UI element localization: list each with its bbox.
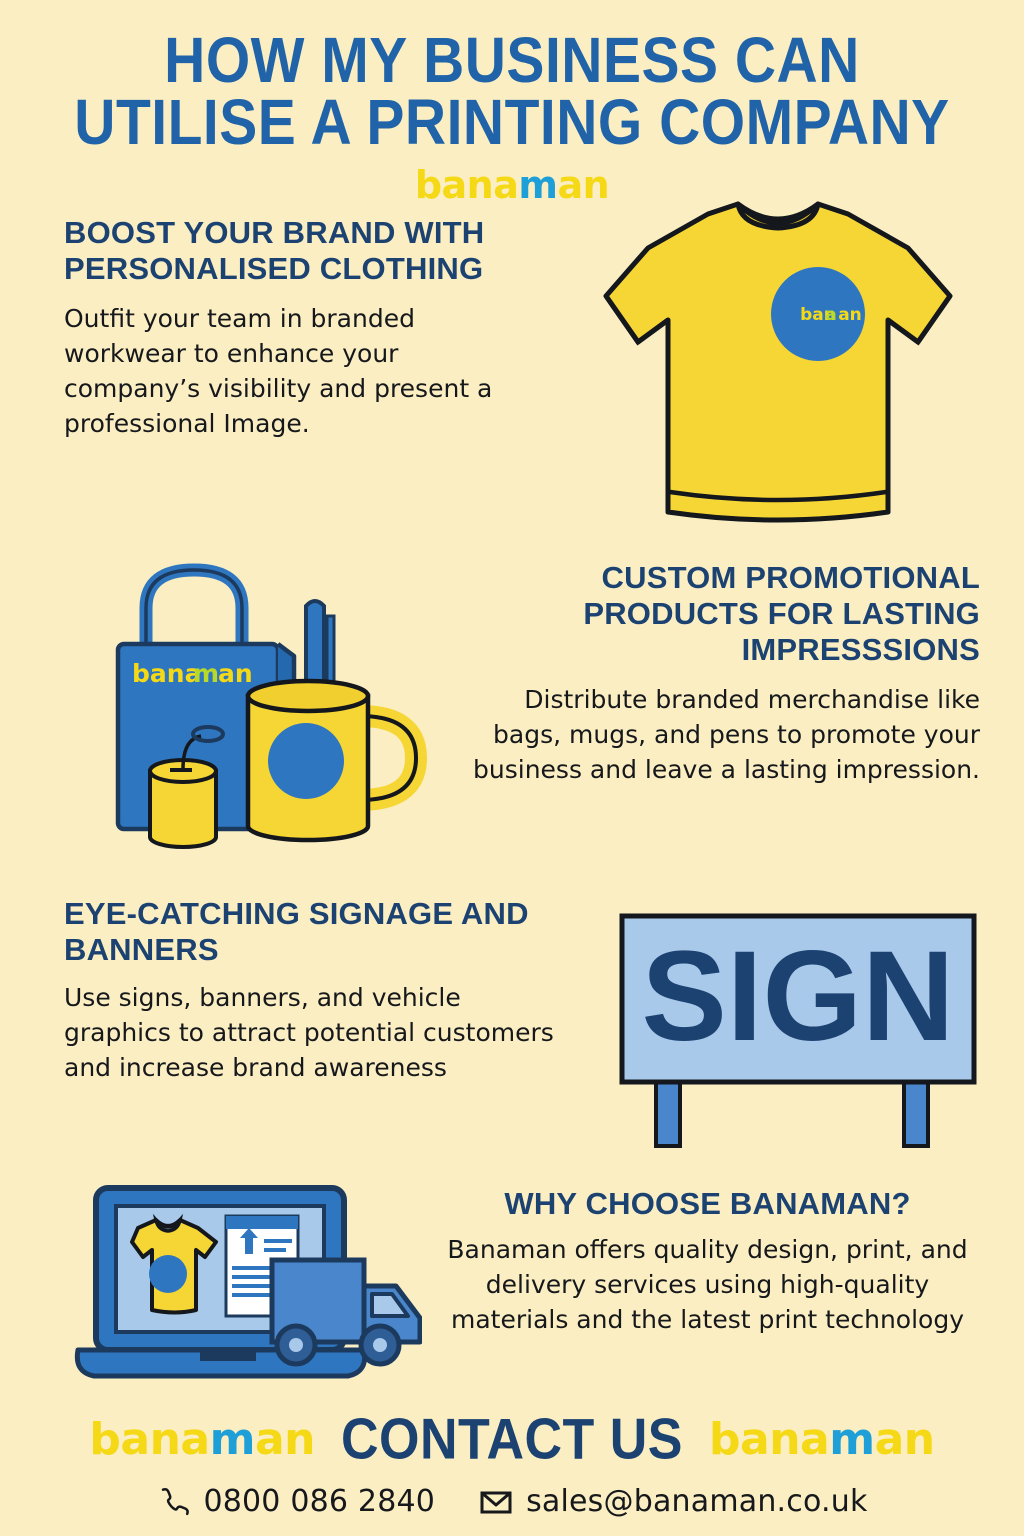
title-line-1: HOW MY BUSINESS CAN	[0, 26, 1024, 95]
contact-phone[interactable]: 0800 086 2840	[156, 1484, 435, 1519]
phone-number: 0800 086 2840	[203, 1484, 435, 1519]
contact-email[interactable]: sales@banaman.co.uk	[479, 1484, 867, 1519]
svg-text:bana: bana	[132, 659, 201, 688]
section-2-body: Distribute branded merchandise like bags…	[470, 682, 980, 787]
email-address: sales@banaman.co.uk	[526, 1484, 867, 1519]
laptop-truck-illustration	[72, 1182, 422, 1397]
section-3-heading: EYE-CATCHING SIGNAGE AND BANNERS	[64, 896, 574, 968]
section-4-text: WHY CHOOSE BANAMAN? Banaman offers quali…	[430, 1186, 985, 1337]
section-1-text: BOOST YOUR BRAND WITH PERSONALISED CLOTH…	[64, 215, 514, 441]
section-4-heading: WHY CHOOSE BANAMAN?	[430, 1186, 985, 1222]
infographic-poster: HOW MY BUSINESS CAN UTILISE A PRINTING C…	[0, 0, 1024, 1536]
section-4-body: Banaman offers quality design, print, an…	[430, 1232, 985, 1337]
phone-icon	[156, 1485, 190, 1519]
section-2-text: CUSTOM PROMOTIONAL PRODUCTS FOR LASTING …	[470, 560, 980, 787]
title-line-2: UTILISE A PRINTING COMPANY	[0, 88, 1024, 157]
billboard-illustration: SIGN	[612, 900, 984, 1150]
page-title: HOW MY BUSINESS CAN UTILISE A PRINTING C…	[0, 26, 1024, 150]
section-1-body: Outfit your team in branded workwear to …	[64, 301, 514, 441]
brand-part-1: bana	[415, 163, 519, 207]
footer: banaman CONTACT US banaman 0800 086 2840	[0, 1412, 1024, 1519]
section-1-heading: BOOST YOUR BRAND WITH PERSONALISED CLOTH…	[64, 215, 514, 287]
merchandise-illustration: bana m an	[98, 556, 438, 856]
brand-logo-footer-right: banaman	[709, 1418, 935, 1462]
svg-text:m: m	[193, 659, 219, 688]
svg-text:a: a	[825, 305, 836, 325]
tshirt-illustration: ban a an	[578, 192, 978, 542]
brand-logo-footer-left: banaman	[89, 1418, 315, 1462]
section-2-heading: CUSTOM PROMOTIONAL PRODUCTS FOR LASTING …	[470, 560, 980, 668]
billboard-text: SIGN	[642, 925, 955, 1068]
brand-part-2: m	[518, 163, 557, 207]
contact-us-heading: CONTACT US	[341, 1409, 683, 1471]
svg-text:an: an	[218, 659, 253, 688]
svg-text:an: an	[838, 305, 862, 325]
envelope-icon	[479, 1485, 513, 1519]
section-3-text: EYE-CATCHING SIGNAGE AND BANNERS Use sig…	[64, 896, 574, 1085]
section-3-body: Use signs, banners, and vehicle graphics…	[64, 980, 574, 1085]
